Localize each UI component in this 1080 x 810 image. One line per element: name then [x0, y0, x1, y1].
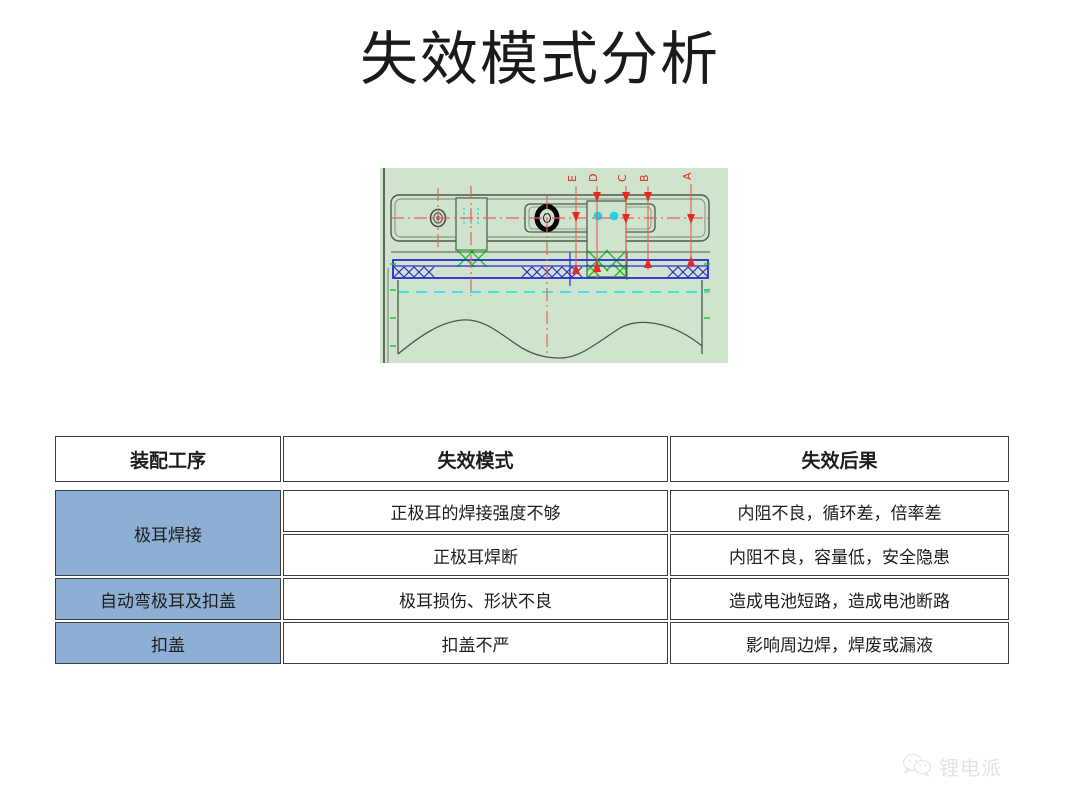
centerlines: [391, 186, 710, 356]
can-seal-band: [391, 252, 710, 286]
green-hatch-left: [457, 250, 487, 267]
diagram-svg: E D C B: [380, 168, 728, 363]
cell-mode-loose-cap: 扣盖不严: [283, 622, 668, 664]
cell-effect-weld-strength: 内阻不良，循环差，倍率差: [670, 490, 1009, 532]
table-row: 极耳焊接 正极耳的焊接强度不够 内阻不良，循环差，倍率差: [55, 490, 1009, 532]
table-row: 自动弯极耳及扣盖 极耳损伤、形状不良 造成电池短路，造成电池断路: [55, 578, 1009, 620]
callout-label-A: A: [681, 172, 694, 180]
header-failure-effect: 失效后果: [670, 436, 1009, 482]
header-process: 装配工序: [55, 436, 281, 482]
cyan-dot: [594, 212, 603, 221]
cell-effect-loose-cap: 影响周边焊，焊废或漏液: [670, 622, 1009, 664]
wechat-icon: [902, 753, 932, 781]
cell-effect-weld-break: 内阻不良，容量低，安全隐患: [670, 534, 1009, 576]
table-header-row: 装配工序 失效模式 失效后果: [55, 436, 1009, 482]
cell-mode-tab-damage: 极耳损伤、形状不良: [283, 578, 668, 620]
watermark: 锂电派: [902, 752, 1002, 781]
table-spacer: [55, 484, 1009, 488]
page-title: 失效模式分析: [0, 26, 1080, 93]
cell-process-capping: 扣盖: [55, 622, 281, 664]
cell-process-tab-welding: 极耳焊接: [55, 490, 281, 576]
callout-label-C: C: [616, 174, 629, 182]
green-edge-ticks: [390, 264, 710, 346]
callout-B: B: [638, 174, 652, 270]
blue-x-hatch: [394, 267, 708, 277]
table-row: 扣盖 扣盖不严 影响周边焊，焊废或漏液: [55, 622, 1009, 664]
callout-label-E: E: [566, 175, 579, 182]
cell-process-auto-bend-cap: 自动弯极耳及扣盖: [55, 578, 281, 620]
cell-mode-weld-break: 正极耳焊断: [283, 534, 668, 576]
cell-mode-weld-strength: 正极耳的焊接强度不够: [283, 490, 668, 532]
failure-mode-table: 装配工序 失效模式 失效后果 极耳焊接 正极耳的焊接强度不够 内阻不良，循环差，…: [53, 434, 1011, 666]
dimension-callouts: E D C B: [566, 172, 695, 278]
callout-label-B: B: [638, 174, 651, 182]
cell-effect-tab-damage: 造成电池短路，造成电池断路: [670, 578, 1009, 620]
battery-cap-assembly-diagram: E D C B: [380, 168, 728, 363]
header-failure-mode: 失效模式: [283, 436, 668, 482]
watermark-text: 锂电派: [939, 752, 1002, 781]
callout-label-D: D: [587, 174, 600, 182]
cyan-dot: [610, 212, 619, 221]
callout-A: A: [681, 172, 695, 268]
diagram-frame: [384, 168, 388, 363]
